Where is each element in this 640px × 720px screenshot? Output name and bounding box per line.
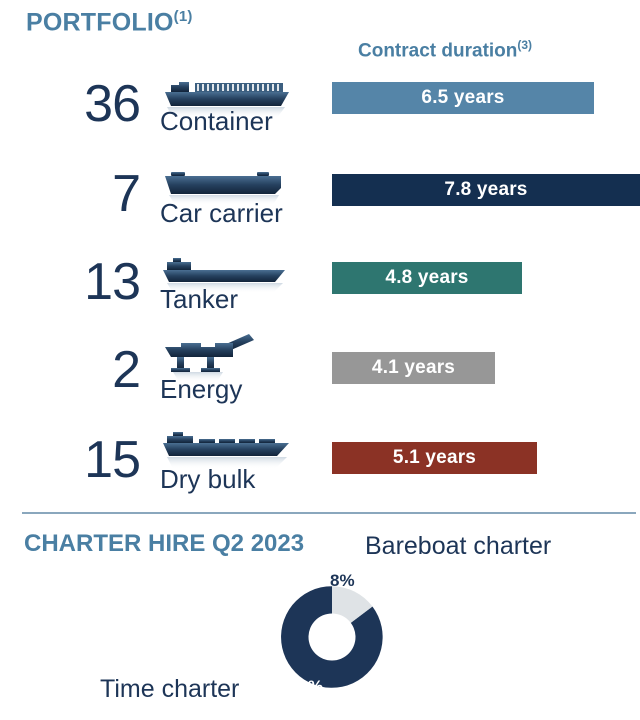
portfolio-title-footnote: (1) — [174, 8, 193, 25]
duration-bar-label-energy: 4.1 years — [372, 357, 455, 379]
vessel-type-label-energy: Energy — [160, 375, 242, 403]
duration-bar-container: 6.5 years — [332, 82, 594, 114]
vessel-type-label-dry-bulk: Dry bulk — [160, 465, 255, 493]
slide-root: PORTFOLIO(1) Contract duration(3) 36 — [0, 0, 640, 720]
vessel-type-label-container: Container — [160, 107, 273, 135]
duration-bar-label-container: 6.5 years — [421, 87, 504, 109]
vessel-type-label-tanker: Tanker — [160, 285, 238, 313]
duration-bar-label-car-carrier: 7.8 years — [444, 179, 527, 201]
duration-bar-tanker: 4.8 years — [332, 262, 522, 294]
vessel-type-label-car-carrier: Car carrier — [160, 199, 283, 227]
contract-duration-footnote: (3) — [517, 38, 532, 52]
duration-bar-car-carrier: 7.8 years — [332, 174, 640, 206]
donut-label-time-pct: 92% — [289, 677, 323, 697]
vessel-count-car-carrier: 7 — [40, 168, 140, 220]
duration-bar-label-tanker: 4.8 years — [385, 267, 468, 289]
contract-duration-header-text: Contract duration — [358, 40, 517, 61]
vessel-count-tanker: 13 — [40, 256, 140, 308]
vessel-count-energy: 2 — [40, 344, 140, 396]
page-title: PORTFOLIO(1) — [26, 8, 193, 37]
duration-bar-energy: 4.1 years — [332, 352, 495, 384]
contract-duration-header: Contract duration(3) — [358, 38, 532, 62]
donut-label-bareboat-pct: 8% — [330, 571, 355, 591]
vessel-count-dry-bulk: 15 — [40, 434, 140, 486]
legend-time-charter: Time charter — [100, 675, 239, 704]
duration-bar-label-dry-bulk: 5.1 years — [393, 447, 476, 469]
section-divider — [22, 512, 636, 514]
vessel-count-container: 36 — [40, 78, 140, 130]
duration-bar-dry-bulk: 5.1 years — [332, 442, 537, 474]
portfolio-title-text: PORTFOLIO — [26, 8, 174, 36]
